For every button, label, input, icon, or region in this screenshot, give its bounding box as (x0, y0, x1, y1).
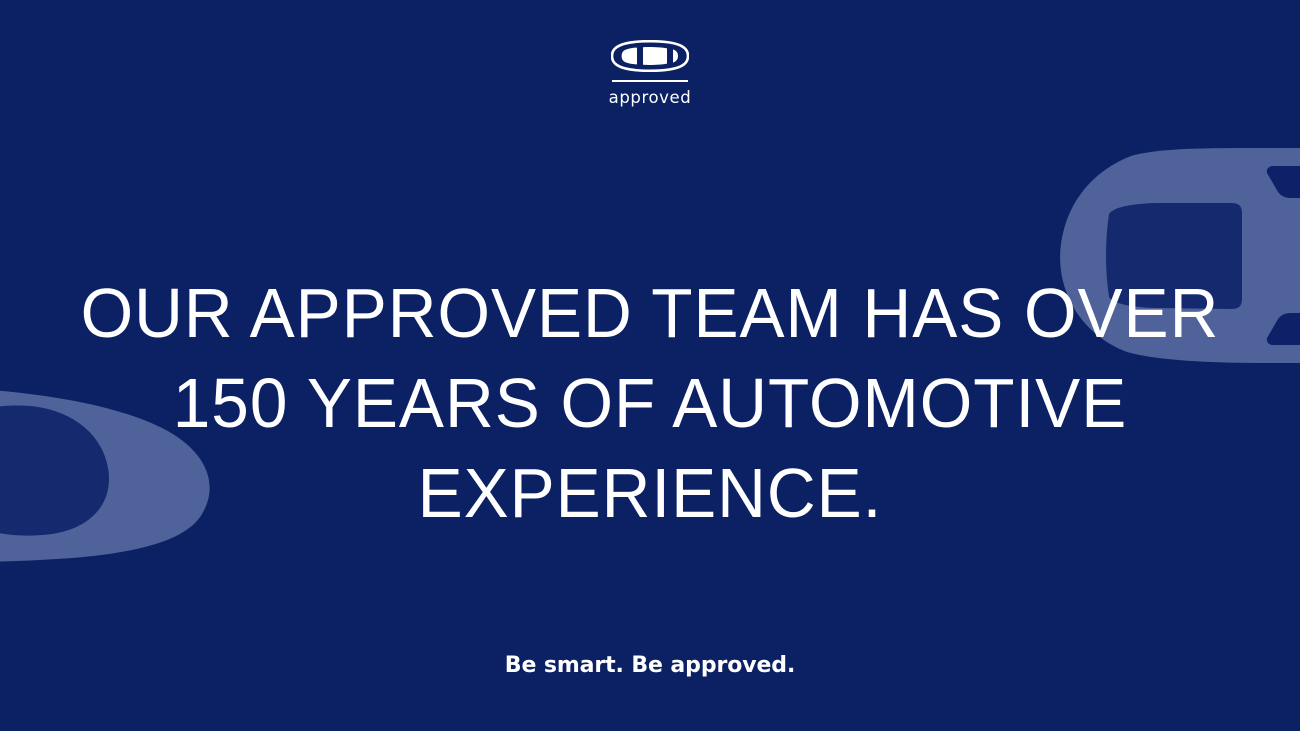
headline-line-1: OUR APPROVED TEAM HAS OVER (23, 268, 1278, 358)
tagline: Be smart. Be approved. (0, 653, 1300, 678)
promo-slide: approved OUR APPROVED TEAM HAS OVER 150 … (0, 0, 1300, 731)
headline-line-3: EXPERIENCE. (23, 448, 1278, 538)
logo-wordmark: approved (609, 88, 692, 107)
headline-line-2: 150 YEARS OF AUTOMOTIVE (23, 358, 1278, 448)
page-title: OUR APPROVED TEAM HAS OVER 150 YEARS OF … (23, 268, 1278, 538)
car-top-view-icon (611, 40, 689, 72)
logo-divider-line (612, 80, 688, 82)
brand-logo: approved (0, 40, 1300, 107)
